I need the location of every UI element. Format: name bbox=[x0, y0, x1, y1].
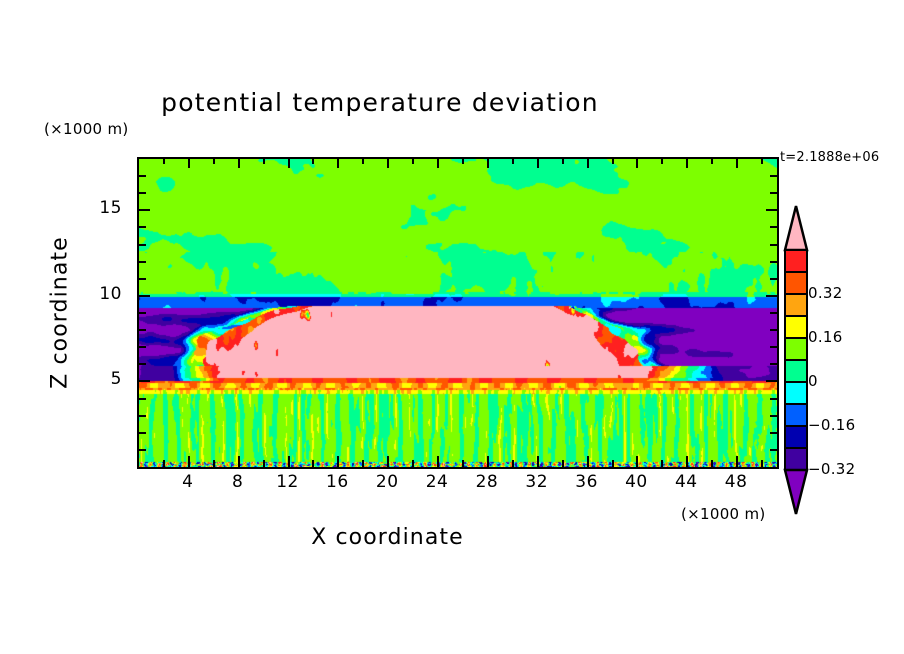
x-tick-top bbox=[263, 157, 265, 164]
colorbar-tick-label: 0.32 bbox=[808, 284, 843, 302]
y-tick bbox=[139, 278, 146, 280]
contour-plot-area bbox=[137, 157, 779, 469]
y-tick bbox=[139, 226, 146, 228]
y-tick-right bbox=[770, 226, 777, 228]
x-tick bbox=[362, 460, 364, 467]
y-tick-right bbox=[770, 192, 777, 194]
y-tick bbox=[139, 415, 146, 417]
y-tick bbox=[139, 432, 146, 434]
x-tick bbox=[487, 456, 489, 467]
contour-field-canvas bbox=[139, 159, 777, 467]
y-tick bbox=[139, 244, 146, 246]
x-tick bbox=[612, 460, 614, 467]
x-tick-top bbox=[636, 157, 638, 168]
x-tick bbox=[537, 456, 539, 467]
x-tick bbox=[661, 460, 663, 467]
x-tick bbox=[337, 456, 339, 467]
x-tick-top bbox=[587, 157, 589, 168]
y-tick-right bbox=[766, 209, 777, 211]
x-tick-top bbox=[437, 157, 439, 168]
y-tick bbox=[139, 329, 146, 331]
x-tick bbox=[736, 456, 738, 467]
x-tick-top bbox=[387, 157, 389, 168]
x-tick bbox=[412, 460, 414, 467]
x-tick bbox=[387, 456, 389, 467]
x-tick-top bbox=[412, 157, 414, 164]
x-tick bbox=[512, 460, 514, 467]
x-tick-top bbox=[188, 157, 190, 168]
y-tick-right bbox=[770, 398, 777, 400]
x-tick-top bbox=[362, 157, 364, 164]
y-tick-right bbox=[770, 449, 777, 451]
y-tick bbox=[139, 346, 146, 348]
colorbar-band bbox=[785, 360, 807, 383]
colorbar: 0.320.160−0.16−0.32 bbox=[780, 205, 814, 515]
x-tick bbox=[686, 456, 688, 467]
y-tick-right bbox=[770, 278, 777, 280]
x-tick bbox=[711, 460, 713, 467]
y-tick-right bbox=[770, 312, 777, 314]
x-tick bbox=[562, 460, 564, 467]
x-tick-label: 48 bbox=[706, 472, 766, 492]
time-label: t=2.1888e+06 bbox=[780, 150, 879, 165]
y-tick-right bbox=[770, 261, 777, 263]
x-tick-top bbox=[761, 157, 763, 164]
x-tick bbox=[587, 456, 589, 467]
colorbar-band bbox=[785, 272, 807, 295]
colorbar-band bbox=[785, 404, 807, 427]
x-tick-top bbox=[661, 157, 663, 164]
x-tick-top bbox=[686, 157, 688, 168]
x-tick bbox=[263, 460, 265, 467]
y-tick-right bbox=[766, 295, 777, 297]
x-tick bbox=[312, 460, 314, 467]
x-tick-top bbox=[163, 157, 165, 164]
y-tick-right bbox=[766, 380, 777, 382]
x-tick-top bbox=[537, 157, 539, 168]
colorbar-band bbox=[785, 382, 807, 405]
colorbar-over-cap bbox=[785, 206, 807, 250]
colorbar-band bbox=[785, 316, 807, 339]
colorbar-band bbox=[785, 294, 807, 317]
x-tick-top bbox=[512, 157, 514, 164]
y-tick bbox=[139, 192, 146, 194]
y-tick bbox=[139, 312, 146, 314]
y-tick-label: 15 bbox=[78, 198, 122, 218]
x-tick-top bbox=[462, 157, 464, 164]
x-axis-title: X coordinate bbox=[0, 525, 775, 550]
y-tick bbox=[139, 295, 150, 297]
x-tick bbox=[761, 460, 763, 467]
x-tick-top bbox=[312, 157, 314, 164]
y-tick bbox=[139, 380, 150, 382]
x-tick bbox=[163, 460, 165, 467]
colorbar-under-cap bbox=[785, 470, 807, 514]
y-tick bbox=[139, 398, 146, 400]
y-tick-right bbox=[770, 346, 777, 348]
y-tick bbox=[139, 209, 150, 211]
y-axis-title: Z coordinate bbox=[48, 213, 73, 413]
x-tick-top bbox=[612, 157, 614, 164]
y-tick-right bbox=[770, 432, 777, 434]
x-tick bbox=[238, 456, 240, 467]
x-tick bbox=[288, 456, 290, 467]
horizontal-axis-units: (×1000 m) bbox=[681, 505, 766, 523]
x-tick-top bbox=[562, 157, 564, 164]
y-tick-label: 5 bbox=[78, 369, 122, 389]
x-tick bbox=[437, 456, 439, 467]
x-tick-top bbox=[337, 157, 339, 168]
y-tick bbox=[139, 449, 146, 451]
colorbar-tick-label: −0.32 bbox=[808, 460, 855, 478]
x-tick bbox=[188, 456, 190, 467]
y-tick-right bbox=[770, 415, 777, 417]
y-tick-right bbox=[770, 329, 777, 331]
x-tick-top bbox=[487, 157, 489, 168]
colorbar-tick-label: 0 bbox=[808, 372, 818, 390]
x-tick-top bbox=[711, 157, 713, 164]
colorbar-band bbox=[785, 426, 807, 449]
colorbar-band bbox=[785, 448, 807, 471]
colorbar-band bbox=[785, 338, 807, 361]
x-tick bbox=[213, 460, 215, 467]
x-tick-top bbox=[736, 157, 738, 168]
x-tick bbox=[636, 456, 638, 467]
x-tick-top bbox=[213, 157, 215, 164]
vertical-axis-units: (×1000 m) bbox=[44, 120, 129, 138]
y-tick-right bbox=[770, 363, 777, 365]
page-title: potential temperature deviation bbox=[0, 88, 760, 117]
y-tick bbox=[139, 261, 146, 263]
y-tick-right bbox=[770, 244, 777, 246]
y-tick-right bbox=[770, 175, 777, 177]
y-tick bbox=[139, 175, 146, 177]
y-tick bbox=[139, 363, 146, 365]
colorbar-tick-label: 0.16 bbox=[808, 328, 843, 346]
colorbar-band bbox=[785, 250, 807, 273]
x-tick-top bbox=[238, 157, 240, 168]
x-tick-top bbox=[288, 157, 290, 168]
y-tick-label: 10 bbox=[78, 284, 122, 304]
colorbar-tick-label: −0.16 bbox=[808, 416, 855, 434]
x-tick bbox=[462, 460, 464, 467]
